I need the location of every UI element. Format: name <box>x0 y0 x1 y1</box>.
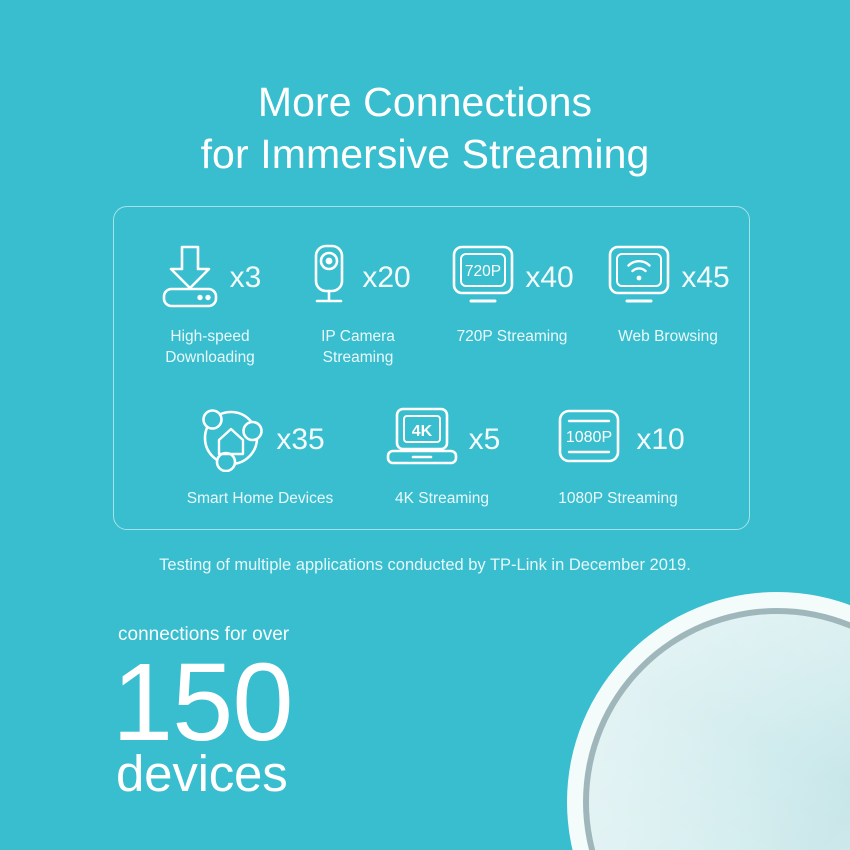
feature-icon-row: 4K x5 <box>362 401 522 479</box>
feature-multiplier: x3 <box>230 263 262 293</box>
ip-camera-icon <box>305 243 353 314</box>
feature-icon-row: x3 <box>132 239 288 317</box>
feature-icon-row: 1080P x10 <box>520 401 716 479</box>
feature-label: IP Camera Streaming <box>284 326 432 368</box>
monitor-720p-icon: 720P <box>450 244 516 313</box>
feature-icon-row: x35 <box>156 401 364 479</box>
svg-text:1080P: 1080P <box>566 429 612 446</box>
feature-720p-streaming: 720P x40 720P Streaming <box>426 239 598 347</box>
feature-multiplier: x40 <box>525 263 573 293</box>
feature-icon-row: 720P x40 <box>426 239 598 317</box>
feature-multiplier: x5 <box>469 425 501 455</box>
feature-ip-camera-streaming: x20 IP Camera Streaming <box>284 239 432 368</box>
feature-web-browsing: x45 Web Browsing <box>592 239 744 347</box>
product-sheen-secondary <box>589 614 850 850</box>
feature-icon-row: x45 <box>592 239 744 317</box>
smart-home-icon <box>195 404 267 477</box>
feature-multiplier: x45 <box>681 263 729 293</box>
feature-smart-home-devices: x35 Smart Home Devices <box>156 401 364 509</box>
monitor-wifi-icon <box>606 244 672 313</box>
laptop-4k-icon: 4K <box>384 406 460 475</box>
feature-label: Web Browsing <box>592 326 744 347</box>
feature-multiplier: x20 <box>362 263 410 293</box>
stat-unit: devices <box>116 748 288 799</box>
stat-number: 150 <box>112 648 293 758</box>
svg-text:4K: 4K <box>411 423 432 440</box>
feature-4k-streaming: 4K x5 4K Streaming <box>362 401 522 509</box>
feature-multiplier: x10 <box>636 425 684 455</box>
feature-icon-row: x20 <box>284 239 432 317</box>
infographic-stage: More Connections for Immersive Streaming… <box>0 0 850 850</box>
headline-line-2: for Immersive Streaming <box>0 128 850 180</box>
feature-label: Smart Home Devices <box>156 488 364 509</box>
feature-label: 4K Streaming <box>362 488 522 509</box>
svg-text:720P: 720P <box>465 263 501 280</box>
download-device-icon <box>159 243 221 314</box>
page-headline: More Connections for Immersive Streaming <box>0 76 850 180</box>
feature-multiplier: x35 <box>276 425 324 455</box>
feature-label: High-speed Downloading <box>132 326 288 368</box>
feature-1080p-streaming: 1080P x10 1080P Streaming <box>520 401 716 509</box>
feature-label: 720P Streaming <box>426 326 598 347</box>
feature-high-speed-downloading: x3 High-speed Downloading <box>132 239 288 368</box>
features-card: x3 High-speed Downloading x20 IP Camera … <box>113 206 750 530</box>
disclaimer-text: Testing of multiple applications conduct… <box>0 556 850 575</box>
router-product-image <box>567 592 850 850</box>
feature-label: 1080P Streaming <box>520 488 716 509</box>
tablet-1080p-icon: 1080P <box>551 407 627 474</box>
headline-line-1: More Connections <box>0 76 850 128</box>
